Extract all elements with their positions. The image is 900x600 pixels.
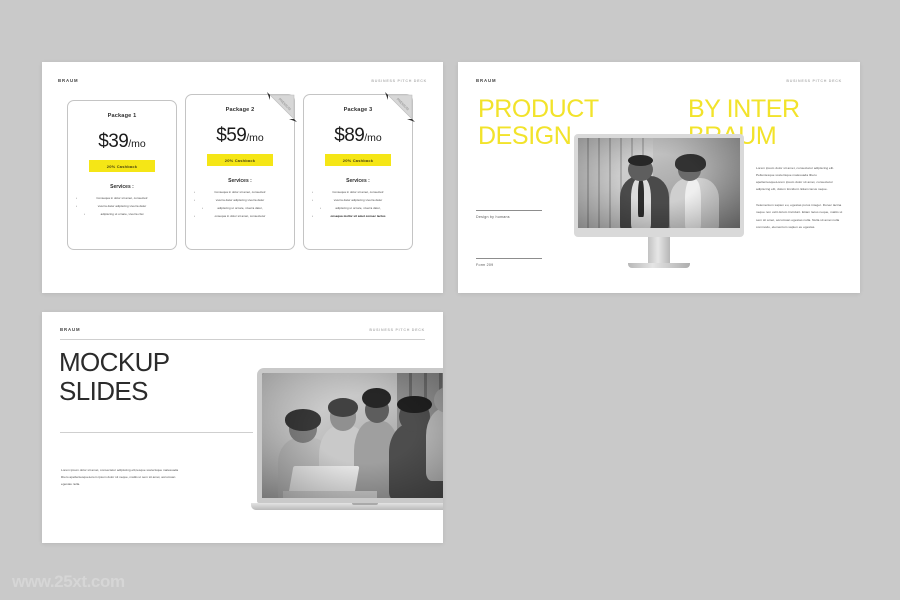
deck-label: BUSINESS PITCH DECK: [786, 79, 842, 83]
premium-ribbon-icon: PREMIUM: [383, 90, 417, 124]
cashback-badge[interactable]: 20% Cashback: [89, 160, 155, 172]
monitor-screen: [574, 134, 744, 237]
price-amount: $89: [334, 125, 364, 146]
slide-product-design[interactable]: BRAUM BUSINESS PITCH DECK PRODUCT DESIGN…: [458, 62, 860, 293]
package-price: $59/mo: [216, 126, 263, 145]
divider: [476, 258, 542, 259]
monitor-neck: [648, 237, 670, 263]
monitor-base: [628, 263, 690, 268]
pricing-card[interactable]: PREMIUM Package 3 $89/mo 20% Cashback Se…: [303, 94, 413, 250]
headline-left-line1: PRODUCT: [478, 96, 599, 123]
list-item: viverra datur adipiscing viverra datur: [310, 199, 406, 202]
package-price: $39/mo: [98, 132, 145, 151]
services-list: Consequa in dolor sit amet, consectetr v…: [74, 197, 170, 221]
brand-logo: BRAUM: [60, 327, 81, 332]
page-title-line2: SLIDES: [59, 377, 170, 406]
laptop-screen: [257, 368, 443, 503]
pricing-card-list: Package 1 $39/mo 20% Cashback Services :…: [67, 100, 413, 250]
laptop-photo: [262, 373, 443, 498]
caption-form-number: Form 209: [476, 258, 542, 267]
premium-ribbon-icon: PREMIUM: [265, 90, 299, 124]
desktop-monitor-mockup: [574, 134, 744, 268]
package-title: Package 1: [108, 113, 137, 119]
slide3-header: BRAUM BUSINESS PITCH DECK: [60, 327, 425, 332]
list-item: Consequa in dolor sit amet, consectetr: [310, 191, 406, 194]
list-item: onsequa mollor sit amet consec lectus: [310, 215, 406, 218]
services-label: Services :: [346, 178, 370, 184]
slide2-header: BRAUM BUSINESS PITCH DECK: [476, 78, 842, 83]
divider: [476, 210, 542, 211]
body-copy-column: Lorem ipsum dolor sit amet, consectetur …: [756, 165, 844, 240]
body-paragraph: Lorem ipsum dolor sit amet, consectetur …: [756, 165, 844, 193]
page-title: MOCKUP SLIDES: [59, 348, 170, 406]
price-amount: $39: [98, 131, 128, 152]
laptop-mockup: [257, 368, 443, 510]
deck-label: BUSINESS PITCH DECK: [371, 79, 427, 83]
list-item: Consequa in dolor sit amet, consectetr: [192, 191, 288, 194]
price-period: /mo: [128, 138, 146, 150]
slide-pricing[interactable]: BRAUM BUSINESS PITCH DECK Package 1 $39/…: [42, 62, 443, 293]
package-price: $89/mo: [334, 126, 381, 145]
cashback-badge[interactable]: 20% Cashback: [325, 154, 391, 166]
body-paragraph: Velementum sapien eu, egestas purus inte…: [756, 202, 844, 230]
pricing-card[interactable]: PREMIUM Package 2 $59/mo 20% Cashback Se…: [185, 94, 295, 250]
list-item: adipiscing ut ornare, viverra datur,: [310, 207, 406, 210]
services-list: Consequa in dolor sit amet, consectetr v…: [192, 191, 288, 223]
watermark: www.25xt.com: [12, 572, 125, 592]
brand-logo: BRAUM: [58, 78, 79, 83]
caption-text: Form 209: [476, 263, 542, 267]
caption-design-by: Design by humans: [476, 210, 542, 219]
caption-text: Design by humans: [476, 215, 542, 219]
monitor-photo: [578, 138, 740, 228]
list-item: viverra datur adipiscing viverra datur: [192, 199, 288, 202]
list-item: Consequa in dolor sit amet, consectetr: [74, 197, 170, 200]
price-period: /mo: [364, 132, 382, 144]
slide-mockup[interactable]: BRAUM BUSINESS PITCH DECK MOCKUP SLIDES …: [42, 312, 443, 543]
divider-top: [60, 339, 425, 340]
pricing-card[interactable]: Package 1 $39/mo 20% Cashback Services :…: [67, 100, 177, 250]
body-paragraph: Lorem ipsum dolor sit amet, consectetur …: [61, 467, 179, 489]
list-item: adipiscing ut ornare, viverra ciwi: [74, 213, 170, 216]
price-amount: $59: [216, 125, 246, 146]
price-period: /mo: [246, 132, 264, 144]
deck-label: BUSINESS PITCH DECK: [369, 328, 425, 332]
headline-right-line1: BY INTER: [688, 96, 800, 123]
services-label: Services :: [110, 184, 134, 190]
cashback-badge[interactable]: 20% Cashback: [207, 154, 273, 166]
package-title: Package 3: [344, 107, 373, 113]
divider-under-title: [60, 432, 253, 433]
list-item: adipiscing ut ornare, viverra datur,: [192, 207, 288, 210]
list-item: onsequa in dolor sit amet, consectetur: [192, 215, 288, 218]
list-item: viverra datur adipiscing viverra datur: [74, 205, 170, 208]
page-title-line1: MOCKUP: [59, 348, 170, 377]
brand-logo: BRAUM: [476, 78, 497, 83]
laptop-base: [251, 503, 443, 510]
services-list: Consequa in dolor sit amet, consectetr v…: [310, 191, 406, 223]
services-label: Services :: [228, 178, 252, 184]
slide1-header: BRAUM BUSINESS PITCH DECK: [58, 78, 427, 83]
package-title: Package 2: [226, 107, 255, 113]
